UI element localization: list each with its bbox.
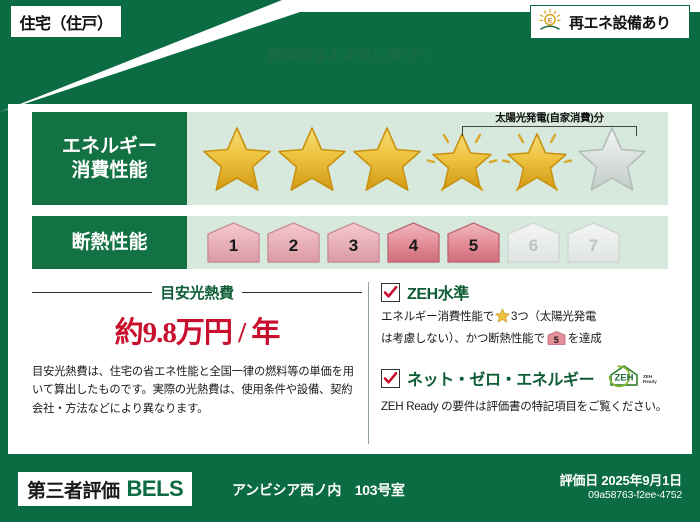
insulation-section: 断熱性能 (32, 216, 668, 269)
inline-star-icon (495, 308, 510, 330)
energy-label-line2: 消費性能 (71, 159, 147, 182)
insulation-house-2-number: 2 (265, 236, 322, 256)
checkmark-icon (381, 283, 400, 302)
insulation-house-7: 7 (565, 221, 622, 264)
insulation-label: 断熱性能 (32, 216, 187, 269)
insulation-house-5-number: 5 (445, 236, 502, 256)
bels-jp-label: 第三者評価 (27, 476, 120, 503)
star-filled-1 (201, 124, 273, 194)
renewable-badge-label: 再エネ設備あり (569, 12, 671, 33)
bels-en-label: BELS (127, 476, 184, 502)
insulation-house-3: 3 (325, 221, 382, 264)
zeh-ready-logo-icon: ZEH ZEH Ready (605, 363, 659, 394)
building-type-label: 住宅（住戸） (19, 10, 112, 34)
column-divider (368, 282, 369, 444)
star-rating-group: 太陽光発電(自家消費)分 (187, 112, 668, 205)
insulation-house-1-number: 1 (205, 236, 262, 256)
net-zero-title: ネット・ゼロ・エネルギー (407, 366, 594, 390)
utility-cost-value: 約9.8万円 / 年 (32, 309, 362, 351)
svg-text:E: E (548, 17, 553, 24)
label-body-card: エネルギー 消費性能 太陽光発電(自家消費)分 (8, 104, 692, 454)
heading-rule-right (242, 292, 362, 293)
zeh-standard-body-part1: エネルギー消費性能で (381, 310, 494, 323)
utility-cost-column: 目安光熱費 約9.8万円 / 年 目安光熱費は、住宅の省エネ性能と全国一律の燃料… (32, 280, 362, 446)
utility-cost-heading: 目安光熱費 (32, 282, 362, 303)
zeh-standard-title: ZEH水準 (407, 280, 469, 304)
solar-annotation-label: 太陽光発電(自家消費)分 (462, 110, 637, 125)
insulation-house-6-number: 6 (505, 236, 562, 256)
details-area: 目安光熱費 約9.8万円 / 年 目安光熱費は、住宅の省エネ性能と全国一律の燃料… (32, 280, 668, 446)
zeh-standard-body-part3: を達成 (568, 332, 602, 345)
certification-column: ZEH水準 エネルギー消費性能で3つ（太陽光発電は考慮しない）、かつ断熱性能で5… (381, 280, 668, 446)
insulation-house-3-number: 3 (325, 236, 382, 256)
solar-annotation-bracket (462, 126, 637, 136)
insulation-house-4-number: 4 (385, 236, 442, 256)
label-subtitle: 建築物省エネ法に基づく (0, 44, 700, 65)
building-name: アンビシア西ノ内 103号室 (232, 480, 405, 500)
zeh-standard-block: ZEH水準 エネルギー消費性能で3つ（太陽光発電は考慮しない）、かつ断熱性能で5… (381, 280, 668, 349)
utility-cost-heading-text: 目安光熱費 (160, 282, 234, 303)
zeh-standard-body-part2: は考慮しない）、かつ断熱性能で (381, 332, 545, 345)
net-zero-body: ZEH Ready の要件は評価書の特記項目をご覧ください。 (381, 398, 668, 417)
star-filled-3 (351, 124, 423, 194)
energy-label-line1: エネルギー (62, 135, 157, 158)
sun-icon: E (537, 8, 563, 37)
inline-house-number: 5 (547, 333, 566, 348)
zeh-standard-body: エネルギー消費性能で3つ（太陽光発電は考慮しない）、かつ断熱性能で5を達成 (381, 308, 668, 349)
heading-rule-left (32, 292, 152, 293)
utility-cost-note: 目安光熱費は、住宅の省エネ性能と全国一律の燃料等の単価を用いて算出したものです。… (32, 363, 362, 418)
insulation-house-1: 1 (205, 221, 262, 264)
renewable-energy-badge: E 再エネ設備あり (530, 5, 690, 39)
insulation-house-4: 4 (385, 221, 442, 264)
net-zero-block: ネット・ゼロ・エネルギー ZEH ZEH Ready ZEH Ready の要件… (381, 363, 668, 417)
inline-house-icon: 5 (547, 330, 566, 346)
energy-consumption-section: エネルギー 消費性能 太陽光発電(自家消費)分 (32, 112, 668, 205)
solar-annotation: 太陽光発電(自家消費)分 (462, 110, 637, 136)
checkmark-icon (381, 369, 400, 388)
insulation-house-6: 6 (505, 221, 562, 264)
evaluation-date: 評価日 2025年9月1日 (560, 470, 682, 489)
insulation-house-2: 2 (265, 221, 322, 264)
building-type-chip: 住宅（住戸） (10, 5, 122, 38)
insulation-house-5: 5 (445, 221, 502, 264)
energy-performance-label: 住宅（住戸） E 再エネ設備あり 建築物省エネ法に基づく 省エネ性能ラベ (0, 0, 700, 522)
insulation-level-group: 1 2 3 4 (187, 216, 668, 269)
energy-consumption-label: エネルギー 消費性能 (32, 112, 187, 205)
net-zero-header: ネット・ゼロ・エネルギー ZEH ZEH Ready (381, 363, 668, 394)
zeh-standard-star-count: 3つ（太陽光発電 (511, 310, 596, 323)
insulation-label-text: 断熱性能 (71, 231, 147, 254)
evaluation-id: 09a58763-f2ee-4752 (588, 489, 682, 501)
zeh-standard-header: ZEH水準 (381, 280, 668, 304)
star-filled-2 (276, 124, 348, 194)
footer-band: 第三者評価 BELS アンビシア西ノ内 103号室 評価日 2025年9月1日 … (0, 456, 700, 522)
insulation-house-7-number: 7 (565, 236, 622, 256)
svg-text:ZEH: ZEH (615, 372, 634, 383)
svg-text:Ready: Ready (643, 379, 657, 384)
bels-certification-box: 第三者評価 BELS (18, 472, 192, 506)
label-title: 省エネ性能ラベル (0, 63, 700, 103)
